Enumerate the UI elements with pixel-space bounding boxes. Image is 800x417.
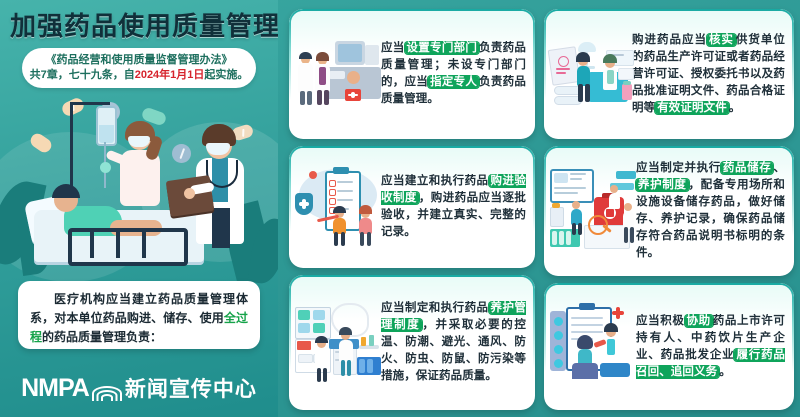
nmpa-footer-logo: NMPA 新闻宣传中心 <box>0 368 278 408</box>
rule-card-2-text: 购进药品应当核实供货单位的药品生产许可证或者药品经营许可证、授权委托书以及药品批… <box>632 32 785 117</box>
checklist-shield-icon <box>295 165 381 249</box>
cards-container: 应当设置专门部门负责药品质量管理；未设专门部门的，应当指定专人负责药品质量管理。 <box>286 0 800 417</box>
laboratory-bench-icon <box>295 301 381 385</box>
rule-card-6[interactable]: 应当积极协助药品上市许可持有人、中药饮片生产企业、药品批发企业履行药品召回、追回… <box>544 283 794 410</box>
rule-card-5[interactable]: 应当制定和执行药品养护管理制度，并采取必要的控温、防潮、避光、通风、防火、防虫、… <box>289 275 535 410</box>
body-phrase: 应当建立和执行药品 <box>381 175 489 187</box>
hospital-counter-icon <box>295 31 381 117</box>
nmpa-arc-icon <box>93 375 121 401</box>
nmpa-wordmark: NMPA <box>21 374 89 403</box>
page-title: 加强药品使用质量管理 <box>10 6 272 43</box>
intro-text-box: 医疗机构应当建立药品质量管理体系，对本单位药品购进、储存、使用全过程的药品质量管… <box>18 281 260 349</box>
subtitle-pre: 共7章，七十九条，自 <box>30 69 135 81</box>
subtitle-effective-date: 2024年1月1日 <box>135 69 205 81</box>
capsule-icon <box>172 144 191 163</box>
body-phrase: 购进药品应当 <box>632 34 707 46</box>
highlight-phrase: 设置专门部门 <box>405 42 480 54</box>
left-panel: 加强药品使用质量管理 《药品经营和使用质量监督管理办法》 共7章，七十九条，自2… <box>0 0 278 417</box>
doctor-pants-icon <box>212 208 230 248</box>
intro-pre: 医疗机构应当建立药品质量管理体系，对本单位药品购进、储存、使用 <box>30 292 248 325</box>
highlight-phrase: 指定专人 <box>428 76 479 88</box>
highlight-phrase: 核实 <box>707 34 736 46</box>
rule-card-1-text: 应当设置专门部门负责药品质量管理；未设专门部门的，应当指定专人负责药品质量管理。 <box>381 40 526 108</box>
iv-bag-icon <box>96 106 117 146</box>
rule-card-6-text: 应当积极协助药品上市许可持有人、中药饮片生产企业、药品批发企业履行药品召回、追回… <box>636 313 785 381</box>
rule-card-4[interactable]: 应当制定并执行药品储存、养护制度，配备专用场所和设施设备储存药品，做好储存、养护… <box>544 146 794 276</box>
iv-hook-icon <box>70 102 110 105</box>
bed-rail-icon <box>68 228 188 266</box>
rule-card-4-text: 应当制定并执行药品储存、养护制度，配备专用场所和设施设备储存药品，做好储存、养护… <box>636 160 785 262</box>
nurse-glove-icon <box>100 162 111 173</box>
pharmacy-counter-icon <box>550 28 632 120</box>
body-phrase: 、 <box>773 162 785 174</box>
pill-icon <box>60 96 86 118</box>
body-phrase: 。 <box>729 102 741 114</box>
face-mask-icon <box>128 136 150 147</box>
subtitle-box: 《药品经营和使用质量监督管理办法》 共7章，七十九条，自2024年1月1日起实施… <box>22 48 256 88</box>
subtitle-line-1: 《药品经营和使用质量监督管理办法》 <box>46 53 233 68</box>
rule-card-3[interactable]: 应当建立和执行药品购进验收制度，购进药品应当逐批验收，并建立真实、完整的记录。 <box>289 146 535 268</box>
rule-card-2[interactable]: 购进药品应当核实供货单位的药品生产许可证或者药品经营许可证、授权委托书以及药品批… <box>544 9 794 139</box>
highlight-phrase: 药品储存 <box>721 162 774 174</box>
highlight-phrase: 有效证明文件 <box>655 102 729 114</box>
rule-card-5-text: 应当制定和执行药品养护管理制度，并采取必要的控温、防潮、避光、通风、防火、防虫、… <box>381 300 526 385</box>
body-phrase: 应当积极 <box>636 315 685 327</box>
doctor-hand-icon <box>184 188 195 199</box>
subtitle-post: 起实施。 <box>204 69 248 81</box>
clipboard-consult-icon <box>550 303 636 391</box>
intro-paragraph: 医疗机构应当建立药品质量管理体系，对本单位药品购进、储存、使用全过程的药品质量管… <box>30 290 248 347</box>
highlight-phrase: 养护制度 <box>636 179 689 191</box>
body-phrase: 应当 <box>381 42 405 54</box>
intro-post: 的药品质量管理负责： <box>42 330 162 344</box>
infographic-poster: 加强药品使用质量管理 《药品经营和使用质量监督管理办法》 共7章，七十九条，自2… <box>0 0 800 417</box>
body-phrase: 应当制定并执行 <box>636 162 721 174</box>
hospital-illustration <box>0 92 278 292</box>
rule-card-1[interactable]: 应当设置专门部门负责药品质量管理；未设专门部门的，应当指定专人负责药品质量管理。 <box>289 9 535 139</box>
highlight-phrase: 协助 <box>685 315 713 327</box>
body-phrase: ，配备专用场所和设施设备储存药品，做好储存、养护记录，确保药品储存符合药品说明书… <box>636 179 785 259</box>
body-phrase: 应当制定和执行药品 <box>381 302 489 314</box>
rule-card-3-text: 应当建立和执行药品购进验收制度，购进药品应当逐批验收，并建立真实、完整的记录。 <box>381 173 526 241</box>
body-phrase: 。 <box>719 366 731 378</box>
nmpa-center-name: 新闻宣传中心 <box>125 373 257 403</box>
subtitle-line-2: 共7章，七十九条，自2024年1月1日起实施。 <box>30 68 249 83</box>
storage-warehouse-icon <box>550 163 636 259</box>
